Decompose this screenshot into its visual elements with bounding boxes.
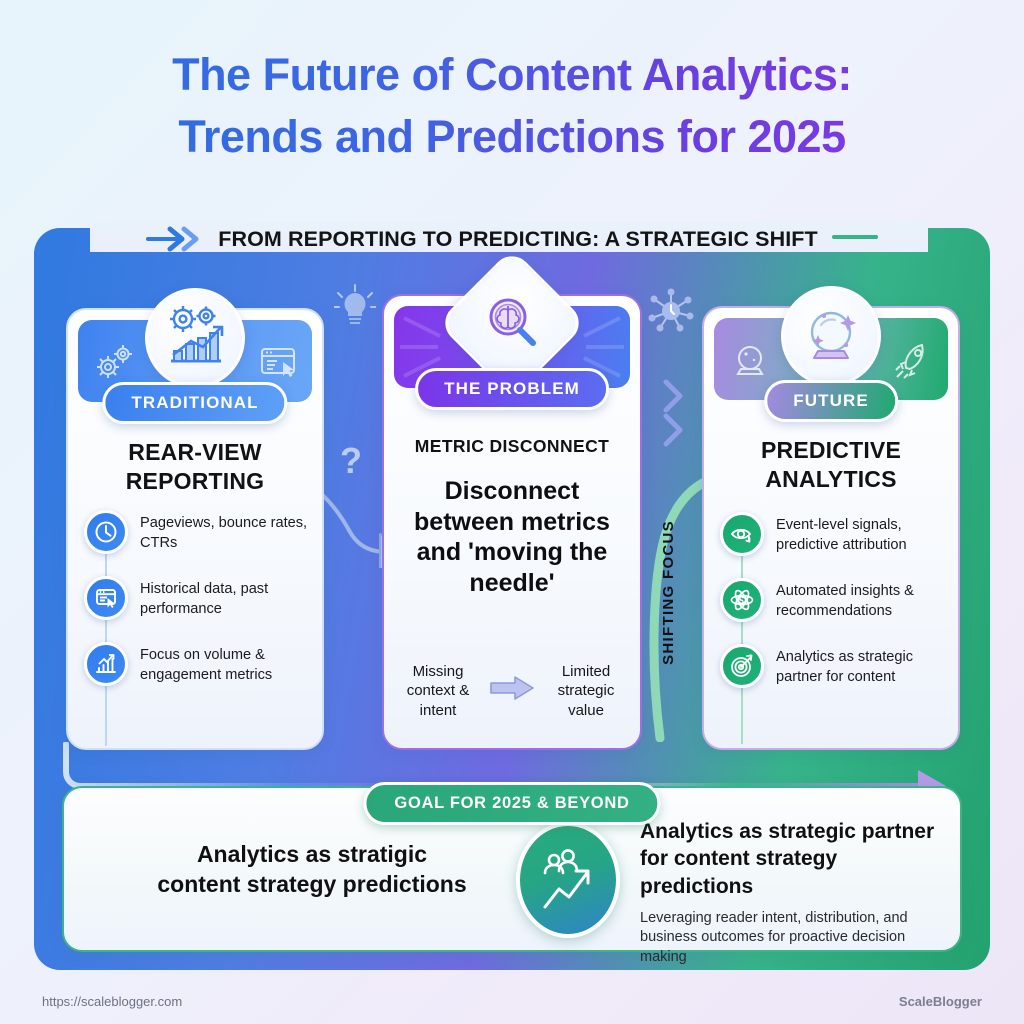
footer-brand: ScaleBlogger [899, 994, 982, 1009]
clock-icon [84, 510, 128, 554]
goal-right-sub-line2: business outcomes for proactive decision… [640, 928, 946, 967]
goal-right-title-line2: for content strategy predictions [640, 845, 946, 900]
line-end-icon [832, 230, 878, 249]
card-traditional-title: REAR-VIEW REPORTING [82, 438, 308, 495]
title-line-1: The Future of Content Analytics: [70, 44, 954, 106]
badge-traditional: TRADITIONAL [102, 382, 287, 424]
goal-right-sub-line1: Leveraging reader intent, distribution, … [640, 909, 946, 929]
goal-left-line2: content strategy predictions [122, 870, 502, 900]
atom-insights-icon [720, 578, 764, 622]
list-item-text: Focus on volume & engagement metrics [140, 642, 310, 685]
card-future-title-line2: ANALYTICS [718, 465, 944, 494]
gears-bar-chart-growth-icon [145, 288, 245, 388]
card-traditional-title-line1: REAR-VIEW [82, 438, 308, 467]
card-problem[interactable]: THE PROBLEM METRIC DISCONNECT Disconnect… [382, 294, 642, 750]
card-future-list: Event-level signals, predictive attribut… [720, 512, 946, 710]
list-item[interactable]: Analytics as strategic partner for conte… [720, 644, 946, 688]
card-problem-statement: Disconnect between metrics and 'moving t… [402, 476, 622, 598]
double-chevron-right-icon [146, 224, 204, 254]
card-future-title-line1: PREDICTIVE [718, 436, 944, 465]
list-item-text: Event-level signals, predictive attribut… [776, 512, 946, 555]
target-dart-icon [720, 644, 764, 688]
card-traditional-title-line2: REPORTING [82, 467, 308, 496]
cards-row: TRADITIONAL REAR-VIEW REPORTING Pageview… [60, 308, 964, 750]
problem-flow: Missing context & intent Limited strateg… [394, 662, 630, 721]
people-growth-arrow-icon [516, 822, 620, 938]
flow-step-2: Limited strategic value [543, 662, 629, 721]
arrow-right-icon [489, 674, 535, 707]
badge-future: FUTURE [764, 380, 898, 422]
goal-right-text: Analytics as strategic partner for conte… [640, 818, 946, 968]
goal-right-subtitle: Leveraging reader intent, distribution, … [640, 909, 946, 968]
goal-right-title-line1: Analytics as strategic partner [640, 818, 946, 845]
list-item[interactable]: Focus on volume & engagement metrics [84, 642, 310, 686]
crystal-ball-sparkles-icon [781, 286, 881, 386]
bar-chart-arrow-icon [84, 642, 128, 686]
badge-problem: THE PROBLEM [415, 368, 609, 410]
card-future-title: PREDICTIVE ANALYTICS [718, 436, 944, 493]
card-problem-title: METRIC DISCONNECT [398, 436, 626, 458]
card-traditional-list: Pageviews, bounce rates, CTRs Historical… [84, 510, 310, 708]
goal-right-title: Analytics as strategic partner for conte… [640, 818, 946, 900]
list-item-text: Historical data, past performance [140, 576, 310, 619]
list-item[interactable]: Pageviews, bounce rates, CTRs [84, 510, 310, 554]
banner-heading: FROM REPORTING TO PREDICTING: A STRATEGI… [218, 227, 818, 252]
footer: https://scaleblogger.com ScaleBlogger [42, 994, 982, 1009]
list-item[interactable]: Automated insights & recommendations [720, 578, 946, 622]
list-item-text: Pageviews, bounce rates, CTRs [140, 510, 310, 553]
card-future[interactable]: FUTURE PREDICTIVE ANALYTICS Event-level … [702, 306, 960, 750]
list-item-text: Analytics as strategic partner for conte… [776, 644, 946, 687]
browser-cursor-icon [84, 576, 128, 620]
eye-signal-icon [720, 512, 764, 556]
goal-left-line1: Analytics as stratigic [122, 840, 502, 870]
card-traditional[interactable]: TRADITIONAL REAR-VIEW REPORTING Pageview… [66, 308, 324, 750]
list-item-text: Automated insights & recommendations [776, 578, 946, 621]
title-line-2: Trends and Predictions for 2025 [70, 106, 954, 168]
banner: FROM REPORTING TO PREDICTING: A STRATEGI… [0, 222, 1024, 256]
list-item[interactable]: Historical data, past performance [84, 576, 310, 620]
goal-left-text: Analytics as stratigic content strategy … [122, 840, 502, 900]
list-item[interactable]: Event-level signals, predictive attribut… [720, 512, 946, 556]
flow-step-1: Missing context & intent [395, 662, 481, 721]
footer-url[interactable]: https://scaleblogger.com [42, 994, 182, 1009]
goal-badge: GOAL FOR 2025 & BEYOND [363, 782, 660, 825]
page-title: The Future of Content Analytics: Trends … [0, 44, 1024, 168]
